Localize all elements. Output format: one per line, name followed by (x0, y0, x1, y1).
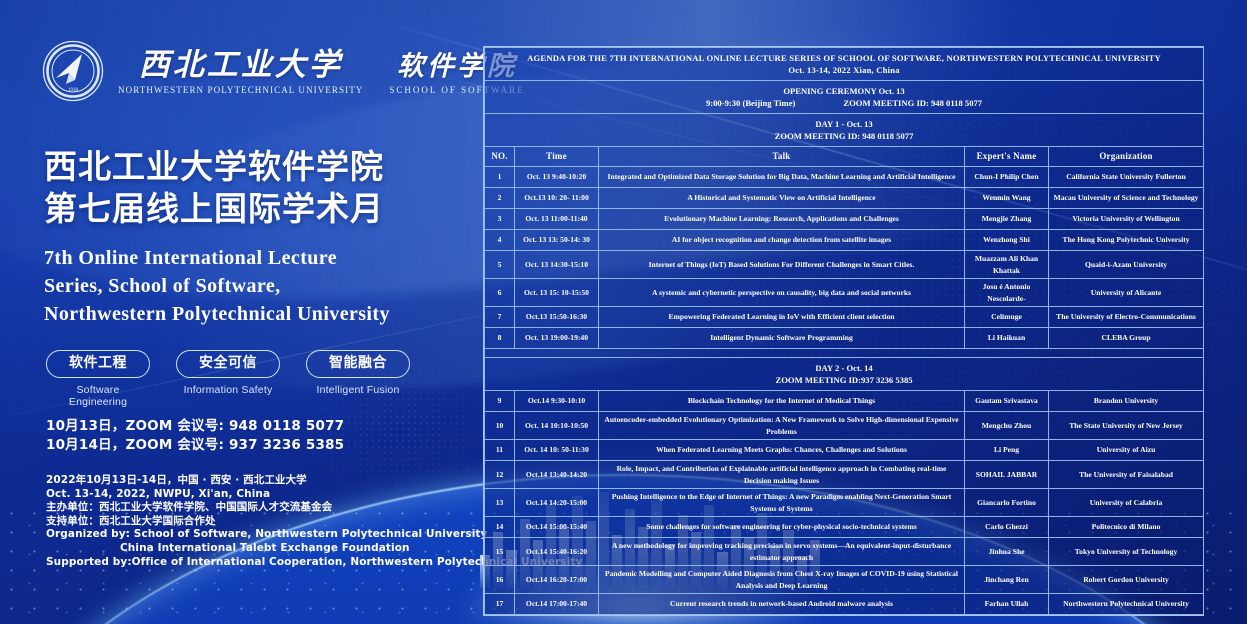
wordmark-university-cn: 西北工业大学 (139, 48, 343, 82)
topic-badge-pill: 软件工程 (46, 350, 150, 378)
cell-expert: Wenzhong Shi (965, 230, 1049, 251)
agenda-title-line1: AGENDA FOR THE 7TH INTERNATIONAL ONLINE … (491, 52, 1197, 64)
cell-organization: University of Alicante (1049, 279, 1204, 307)
svg-text:1938: 1938 (68, 88, 79, 93)
cell-no: 7 (485, 307, 515, 328)
cell-expert: Chun-I Philip Chen (965, 167, 1049, 188)
day2-label: DAY 2 - Oct. 14 (491, 362, 1197, 374)
opening-ceremony-title: OPENING CEREMONY Oct. 13 (491, 85, 1197, 97)
cell-organization: Victoria University of Wellington (1049, 209, 1204, 230)
agenda-title-cell: AGENDA FOR THE 7TH INTERNATIONAL ONLINE … (485, 48, 1204, 81)
zoom-meeting-info: 10月13日，ZOOM 会议号: 948 0118 5077 10月14日，ZO… (46, 417, 344, 455)
cell-time: Oct.14 16:20-17:00 (515, 566, 599, 594)
cell-no: 13 (485, 489, 515, 517)
cell-expert: Li Peng (965, 440, 1049, 461)
cell-talk: Role, Impact, and Contribution of Explai… (599, 461, 965, 489)
cell-time: Oct. 13 15: 10-15:50 (515, 279, 599, 307)
page-title-en: 7th Online International Lecture Series,… (44, 244, 464, 328)
cell-talk: Integrated and Optimized Data Storage So… (599, 167, 965, 188)
agenda-spacer-row (485, 349, 1204, 358)
cell-time: Oct.14 14:20-15:00 (515, 489, 599, 517)
cell-no: 12 (485, 461, 515, 489)
cell-time: Oct.14 15:00-15:40 (515, 517, 599, 538)
cell-no: 14 (485, 517, 515, 538)
cell-expert: Jinchang Ren (965, 566, 1049, 594)
cell-expert: Josu é Antonio Nescolarde- (965, 279, 1049, 307)
column-header-expert: Expert's Name (965, 147, 1049, 167)
cell-talk: Pandemic Modelling and Computer Aided Di… (599, 566, 965, 594)
topic-badge-pill: 安全可信 (176, 350, 280, 378)
cell-organization: The State University of New Jersey (1049, 412, 1204, 440)
table-row: 3 Oct. 13 11:00-11:40 Evolutionary Machi… (485, 209, 1204, 230)
column-header-talk: Talk (599, 147, 965, 167)
cell-time: Oct.14 13:40-14:20 (515, 461, 599, 489)
cell-organization: Northwestern Polytechnical University (1049, 594, 1204, 615)
cell-organization: Tokyo University of Technology (1049, 538, 1204, 566)
cell-talk: Autoencoder-embedded Evolutionary Optimi… (599, 412, 965, 440)
cell-organization: University of Calabria (1049, 489, 1204, 517)
agenda-title-line2: Oct. 13-14, 2022 Xian, China (491, 64, 1197, 76)
topic-badge-label: Information Safety (176, 384, 280, 396)
table-row: 9 Oct.14 9:30-10:10 Blockchain Technolog… (485, 391, 1204, 412)
cell-time: Oct.13 15:50-16:30 (515, 307, 599, 328)
topic-badge-pill: 智能融合 (306, 350, 410, 378)
cell-expert: Jinhua She (965, 538, 1049, 566)
agenda-column-header-row: NO. Time Talk Expert's Name Organization (485, 147, 1204, 167)
table-row: 5 Oct. 13 14:30-15:10 Internet of Things… (485, 251, 1204, 279)
page-title-en-line3: Northwestern Polytechnical University (44, 300, 464, 328)
cell-expert: Mengjie Zhang (965, 209, 1049, 230)
agenda-title-row: AGENDA FOR THE 7TH INTERNATIONAL ONLINE … (485, 48, 1204, 81)
cell-no: 9 (485, 391, 515, 412)
day2-header-cell: DAY 2 - Oct. 14 ZOOM MEETING ID:937 3236… (485, 358, 1204, 391)
nwpu-crest-icon: 1938 (42, 40, 104, 102)
cell-expert: Farhan Ullah (965, 594, 1049, 615)
cell-no: 17 (485, 594, 515, 615)
cell-expert: Carlo Ghezzi (965, 517, 1049, 538)
cell-no: 11 (485, 440, 515, 461)
table-row: 4 Oct. 13 13: 50-14: 30 AI for object re… (485, 230, 1204, 251)
cell-no: 4 (485, 230, 515, 251)
cell-organization: The University of Faisalabad (1049, 461, 1204, 489)
zoom-meeting-day2: 10月14日，ZOOM 会议号: 937 3236 5385 (46, 436, 344, 455)
cell-organization: Politecnico di Milano (1049, 517, 1204, 538)
cell-expert: Celimuge (965, 307, 1049, 328)
brand-header: 1938 西北工业大学 NORTHWESTERN POLYTECHNICAL U… (42, 40, 525, 102)
zoom-meeting-day1: 10月13日，ZOOM 会议号: 948 0118 5077 (46, 417, 344, 436)
cell-time: Oct. 13 13: 50-14: 30 (515, 230, 599, 251)
cell-talk: Intelligent Dynamic Software Programming (599, 328, 965, 349)
column-header-no: NO. (485, 147, 515, 167)
cell-talk: Some challenges for software engineering… (599, 517, 965, 538)
topic-badge-label: Intelligent Fusion (306, 384, 410, 396)
cell-talk: Evolutionary Machine Learning: Research,… (599, 209, 965, 230)
cell-talk: Internet of Things (IoT) Based Solutions… (599, 251, 965, 279)
cell-organization: CLEBA Group (1049, 328, 1204, 349)
cell-no: 15 (485, 538, 515, 566)
cell-no: 1 (485, 167, 515, 188)
opening-ceremony-details: 9:00-9:30 (Beijing Time) ZOOM MEETING ID… (491, 97, 1197, 109)
cell-no: 6 (485, 279, 515, 307)
cell-organization: Robert Gordon University (1049, 566, 1204, 594)
table-row: 10 Oct. 14 10:10-10:50 Autoencoder-embed… (485, 412, 1204, 440)
column-header-time: Time (515, 147, 599, 167)
cell-organization: University of Aizu (1049, 440, 1204, 461)
table-row: 2 Oct.13 10: 20- 11:00 A Historical and … (485, 188, 1204, 209)
cell-expert: Mengchu Zhou (965, 412, 1049, 440)
page-title-cn-line2: 第七届线上国际学术月 (44, 188, 464, 230)
cell-no: 8 (485, 328, 515, 349)
cell-time: Oct. 13 19:00-19:40 (515, 328, 599, 349)
topic-badge-information-safety: 安全可信 Information Safety (176, 350, 280, 408)
table-row: 16 Oct.14 16:20-17:00 Pandemic Modelling… (485, 566, 1204, 594)
cell-organization: Brandon University (1049, 391, 1204, 412)
cell-time: Oct.14 17:00-17:40 (515, 594, 599, 615)
day2-header-row: DAY 2 - Oct. 14 ZOOM MEETING ID:937 3236… (485, 358, 1204, 391)
day1-header-row: DAY 1 - Oct. 13 ZOOM MEETING ID: 948 011… (485, 114, 1204, 147)
cell-time: Oct.13 10: 20- 11:00 (515, 188, 599, 209)
cell-talk: Empowering Federated Learning in IoV wit… (599, 307, 965, 328)
day2-zoom-id: ZOOM MEETING ID:937 3236 5385 (491, 374, 1197, 386)
cell-organization: Macau University of Science and Technolo… (1049, 188, 1204, 209)
cell-time: Oct. 14 10:10-10:50 (515, 412, 599, 440)
cell-talk: Current research trends in network-based… (599, 594, 965, 615)
wordmark-university-en: NORTHWESTERN POLYTECHNICAL UNIVERSITY (118, 85, 363, 95)
cell-talk: Blockchain Technology for the Internet o… (599, 391, 965, 412)
page-title-cn-line1: 西北工业大学软件学院 (44, 146, 464, 188)
opening-ceremony-zoom-id: ZOOM MEETING ID: 948 0118 5077 (843, 97, 982, 109)
cell-no: 10 (485, 412, 515, 440)
cell-organization: Quaid-i-Azam University (1049, 251, 1204, 279)
cell-talk: A Historical and Systematic View on Arti… (599, 188, 965, 209)
table-row: 7 Oct.13 15:50-16:30 Empowering Federate… (485, 307, 1204, 328)
cell-organization: The University of Electro-Communications (1049, 307, 1204, 328)
cell-time: Oct.14 15:40-16:20 (515, 538, 599, 566)
cell-talk: A systemic and cybernetic perspective on… (599, 279, 965, 307)
opening-ceremony-row: OPENING CEREMONY Oct. 13 9:00-9:30 (Beij… (485, 81, 1204, 114)
poster-root: 1938 西北工业大学 NORTHWESTERN POLYTECHNICAL U… (0, 0, 1247, 624)
day1-label: DAY 1 - Oct. 13 (491, 118, 1197, 130)
cell-talk: AI for object recognition and change det… (599, 230, 965, 251)
cell-no: 16 (485, 566, 515, 594)
cell-time: Oct. 13 9:40-10:20 (515, 167, 599, 188)
cell-organization: The Hong Kong Polytechnic University (1049, 230, 1204, 251)
table-row: 12 Oct.14 13:40-14:20 Role, Impact, and … (485, 461, 1204, 489)
agenda-spacer-cell (485, 349, 1204, 358)
column-header-organization: Organization (1049, 147, 1204, 167)
poster-title-block: 西北工业大学软件学院 第七届线上国际学术月 7th Online Interna… (44, 146, 464, 328)
day1-zoom-id: ZOOM MEETING ID: 948 0118 5077 (491, 130, 1197, 142)
table-row: 11 Oct. 14 10: 50-11:30 When Federated L… (485, 440, 1204, 461)
table-row: 6 Oct. 13 15: 10-15:50 A systemic and cy… (485, 279, 1204, 307)
cell-expert: Gautam Srivastava (965, 391, 1049, 412)
cell-talk: When Federated Learning Meets Graphs: Ch… (599, 440, 965, 461)
table-row: 15 Oct.14 15:40-16:20 A new methodology … (485, 538, 1204, 566)
cell-talk: Pushing Intelligence to the Edge of Inte… (599, 489, 965, 517)
page-title-en-line1: 7th Online International Lecture (44, 244, 464, 272)
cell-time: Oct. 14 10: 50-11:30 (515, 440, 599, 461)
agenda-table-container: AGENDA FOR THE 7TH INTERNATIONAL ONLINE … (483, 46, 1204, 616)
table-row: 13 Oct.14 14:20-15:00 Pushing Intelligen… (485, 489, 1204, 517)
topic-badge-software-engineering: 软件工程 Software Engineering (46, 350, 150, 408)
table-row: 14 Oct.14 15:00-15:40 Some challenges fo… (485, 517, 1204, 538)
cell-time: Oct. 13 14:30-15:10 (515, 251, 599, 279)
cell-expert: SOHAIL JABBAR (965, 461, 1049, 489)
cell-expert: Giancarlo Fortino (965, 489, 1049, 517)
cell-expert: Li Haikuan (965, 328, 1049, 349)
cell-expert: Wenmin Wang (965, 188, 1049, 209)
day1-header-cell: DAY 1 - Oct. 13 ZOOM MEETING ID: 948 011… (485, 114, 1204, 147)
table-row: 1 Oct. 13 9:40-10:20 Integrated and Opti… (485, 167, 1204, 188)
table-row: 8 Oct. 13 19:00-19:40 Intelligent Dynami… (485, 328, 1204, 349)
topic-badge-list: 软件工程 Software Engineering 安全可信 Informati… (46, 350, 410, 408)
cell-expert: Muazzam Ali Khan Khattak (965, 251, 1049, 279)
cell-no: 2 (485, 188, 515, 209)
cell-no: 5 (485, 251, 515, 279)
cell-no: 3 (485, 209, 515, 230)
topic-badge-label: Software Engineering (46, 384, 150, 408)
agenda-table: AGENDA FOR THE 7TH INTERNATIONAL ONLINE … (484, 47, 1204, 615)
opening-ceremony-time: 9:00-9:30 (Beijing Time) (706, 97, 795, 109)
topic-badge-intelligent-fusion: 智能融合 Intelligent Fusion (306, 350, 410, 408)
table-row: 17 Oct.14 17:00-17:40 Current research t… (485, 594, 1204, 615)
cell-organization: California State University Fullerton (1049, 167, 1204, 188)
page-title-en-line2: Series, School of Software, (44, 272, 464, 300)
wordmark-university: 西北工业大学 NORTHWESTERN POLYTECHNICAL UNIVER… (118, 48, 363, 95)
cell-talk: A new methodology for improving tracking… (599, 538, 965, 566)
opening-ceremony-cell: OPENING CEREMONY Oct. 13 9:00-9:30 (Beij… (485, 81, 1204, 114)
cell-time: Oct.14 9:30-10:10 (515, 391, 599, 412)
cell-time: Oct. 13 11:00-11:40 (515, 209, 599, 230)
